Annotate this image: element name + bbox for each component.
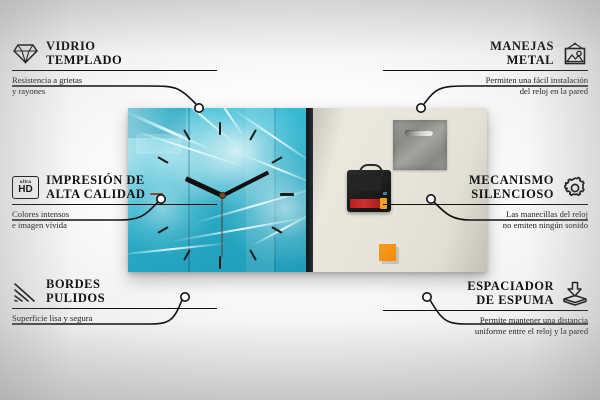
clock-mark <box>219 256 221 269</box>
clock-second-hand <box>222 196 223 258</box>
hanging-frame-icon <box>561 40 588 67</box>
feature-title: VIDRIO TEMPLADO <box>46 40 122 67</box>
infographic-canvas: VIDRIO TEMPLADO Resistencia a grietas y … <box>0 0 600 400</box>
divider <box>12 204 217 205</box>
divider <box>12 308 217 309</box>
foam-spacer <box>379 244 396 261</box>
feature-description: Permite mantener una distancia uniforme … <box>383 315 588 336</box>
hd-badge-large-text: HD <box>18 185 32 195</box>
feature-title: ESPACIADOR DE ESPUMA <box>467 280 554 307</box>
feature-title: BORDES PULIDOS <box>46 278 105 305</box>
feature-title: IMPRESIÓN DE ALTA CALIDAD <box>46 174 145 201</box>
clock-center-cap <box>219 192 226 199</box>
divider <box>383 70 588 71</box>
feature-espaciador-espuma: ESPACIADOR DE ESPUMA Permite mantener un… <box>383 280 588 337</box>
metal-hanger-bracket <box>393 120 447 170</box>
diamond-icon <box>12 40 39 67</box>
polished-edge-icon <box>12 278 39 305</box>
hanger-slot <box>405 130 433 136</box>
divider <box>383 204 588 205</box>
divider <box>383 310 588 311</box>
feature-title: MANEJAS METAL <box>490 40 554 67</box>
feature-description: Resistencia a grietas y rayones <box>12 75 217 96</box>
feature-manejas-metal: MANEJAS METAL Permiten una fácil instala… <box>383 40 588 97</box>
feature-description: Superficie lisa y segura <box>12 313 217 324</box>
feature-description: Las manecillas del reloj no emiten ningú… <box>383 209 588 230</box>
feature-title: MECANISMO SILENCIOSO <box>469 174 554 201</box>
ultra-hd-icon: ultra HD <box>12 174 39 201</box>
feature-bordes-pulidos: BORDES PULIDOS Superficie lisa y segura <box>12 278 217 324</box>
clock-mark <box>280 193 294 196</box>
feature-description: Permiten una fácil instalación del reloj… <box>383 75 588 96</box>
feature-impresion-alta-calidad: ultra HD IMPRESIÓN DE ALTA CALIDAD Color… <box>12 174 217 231</box>
feature-mecanismo-silencioso: MECANISMO SILENCIOSO Las manecillas del … <box>383 174 588 231</box>
divider <box>12 70 217 71</box>
mechanism-plate <box>351 175 381 191</box>
feature-vidrio-templado: VIDRIO TEMPLADO Resistencia a grietas y … <box>12 40 217 97</box>
foam-spacer-icon <box>561 280 588 307</box>
feature-description: Colores intensos e imagen vívida <box>12 209 217 230</box>
clock-mark <box>219 122 221 135</box>
battery <box>350 199 384 208</box>
gear-icon <box>561 174 588 201</box>
